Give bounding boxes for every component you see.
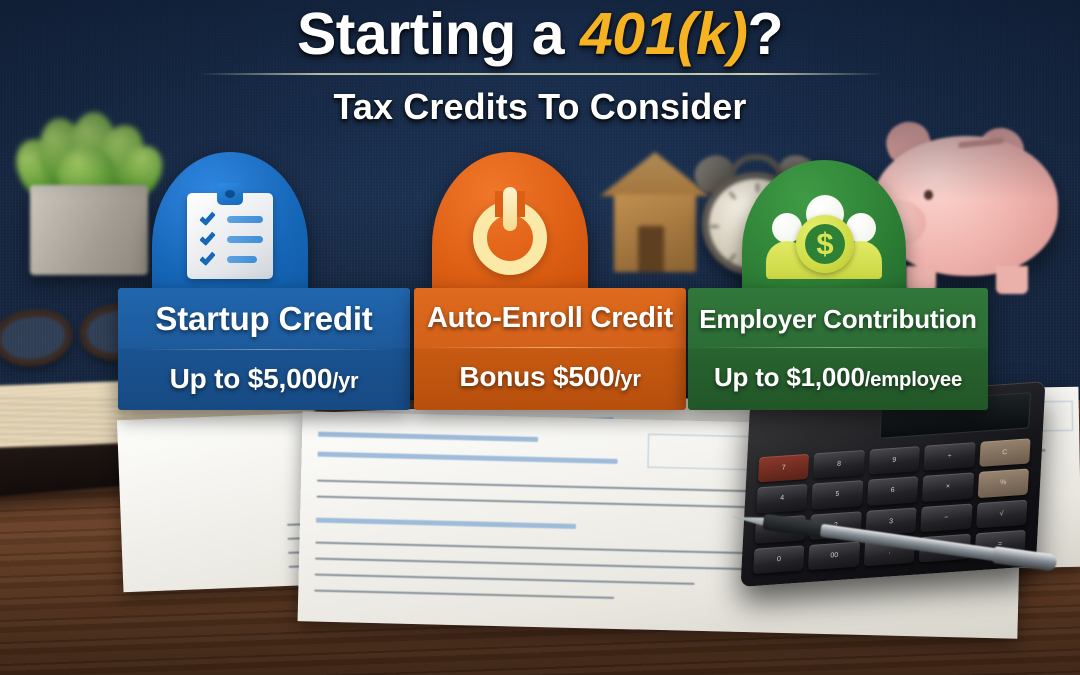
people-with-money-icon: $ — [766, 193, 882, 279]
card-value-main: Up to $1,000 — [714, 362, 865, 392]
card-startup-credit[interactable]: Startup Credit Up to $5,000/yr — [118, 288, 410, 410]
card-value-main: Bonus $500 — [459, 361, 614, 392]
card-value: Up to $5,000/yr — [118, 350, 410, 395]
badge-startup-credit[interactable] — [152, 152, 308, 304]
power-button-icon — [465, 185, 555, 277]
card-title: Auto-Enroll Credit — [414, 288, 686, 335]
dollar-coin-icon: $ — [796, 215, 854, 273]
card-value-unit: /yr — [332, 368, 358, 393]
card-value: Bonus $500/yr — [414, 348, 686, 393]
card-value-main: Up to $5,000 — [170, 363, 333, 394]
card-employer-contribution[interactable]: Employer Contribution Up to $1,000/emplo… — [688, 288, 988, 410]
infographic-canvas: 789÷C456×%123−√000.+= Starting a 401(k)?… — [0, 0, 1080, 675]
card-value: Up to $1,000/employee — [688, 348, 988, 393]
credit-cards-group: $ Startup Credit Up to $5,000/yr Auto-En… — [0, 0, 1080, 675]
card-value-unit: /yr — [615, 366, 641, 391]
clipboard-checklist-icon — [187, 183, 273, 279]
card-title: Startup Credit — [118, 288, 410, 338]
badge-auto-enroll-credit[interactable] — [432, 152, 588, 304]
badge-employer-contribution[interactable]: $ — [742, 160, 906, 306]
card-value-unit: /employee — [865, 369, 962, 391]
card-auto-enroll-credit[interactable]: Auto-Enroll Credit Bonus $500/yr — [414, 288, 686, 410]
card-title: Employer Contribution — [688, 288, 988, 335]
dollar-sign: $ — [805, 224, 845, 264]
